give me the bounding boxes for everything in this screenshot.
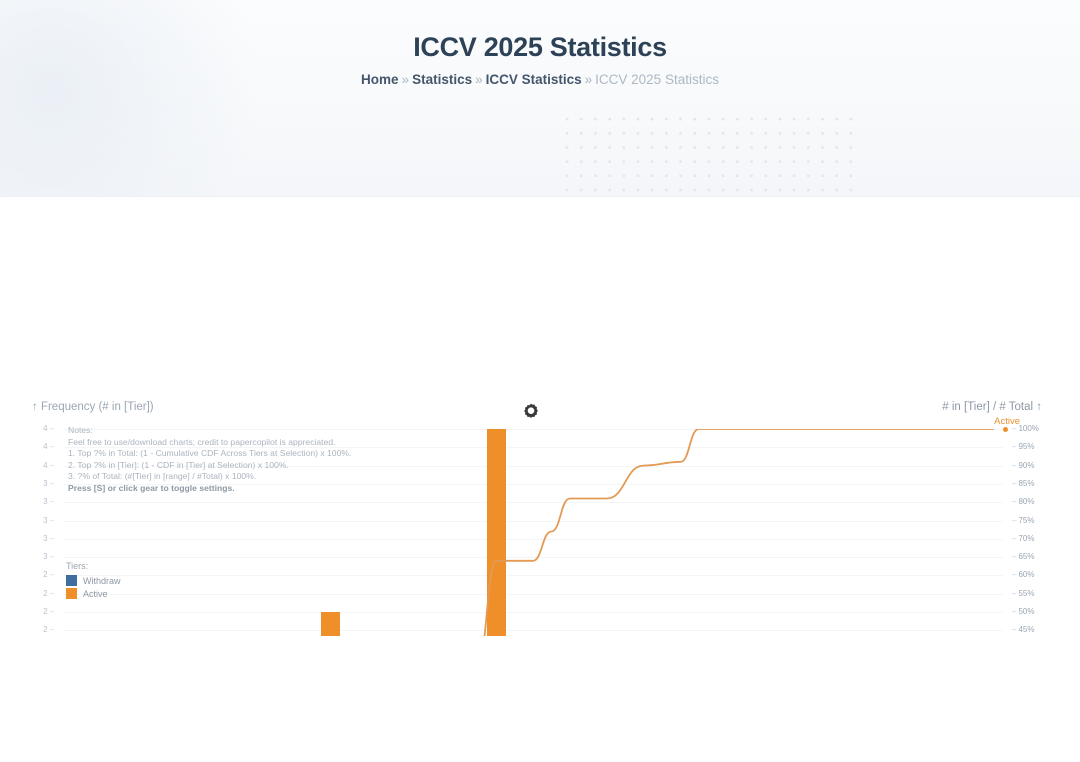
y-tick-right-90: –90%	[1012, 461, 1034, 470]
y-tick-left-6: 3–	[32, 534, 54, 543]
y-tick-left-10: 2–	[32, 607, 54, 616]
y-tick-right-60: –60%	[1012, 570, 1034, 579]
y-tick-right-80: –80%	[1012, 497, 1034, 506]
y-tick-right-95: –95%	[1012, 442, 1034, 451]
gear-icon[interactable]	[521, 402, 541, 422]
breadcrumb-separator: »	[585, 72, 593, 87]
legend-label-withdraw: Withdraw	[83, 576, 121, 586]
notes-line-3: 2. Top ?% in [Tier]: (1 - CDF in [Tier] …	[68, 460, 351, 472]
y-tick-left-1: 4–	[32, 442, 54, 451]
y-tick-left-11: 2–	[32, 625, 54, 634]
y-tick-left-7: 3–	[32, 552, 54, 561]
page-title: ICCV 2025 Statistics	[0, 32, 1080, 63]
breadcrumb-item-home[interactable]: Home	[361, 72, 399, 87]
y-tick-right-65: –65%	[1012, 552, 1034, 561]
y-tick-left-8: 2–	[32, 570, 54, 579]
y-tick-left-5: 3–	[32, 516, 54, 525]
breadcrumb: Home»Statistics»ICCV Statistics»ICCV 202…	[0, 72, 1080, 87]
y-tick-right-55: –55%	[1012, 589, 1034, 598]
page-header: ICCV 2025 Statistics Home»Statistics»ICC…	[0, 0, 1080, 196]
y-tick-left-9: 2–	[32, 589, 54, 598]
chart-panel: ↑ Frequency (# in [Tier]) # in [Tier] / …	[0, 196, 1080, 636]
legend-item-withdraw[interactable]: Withdraw	[66, 575, 121, 586]
y-axis-title-left: ↑ Frequency (# in [Tier])	[32, 401, 154, 413]
y-tick-right-70: –70%	[1012, 534, 1034, 543]
notes-line-1: Feel free to use/download charts; credit…	[68, 437, 351, 449]
decorative-dot-grid	[560, 112, 860, 196]
cdf-endpoint-active	[1003, 427, 1008, 432]
breadcrumb-item-iccv-statistics[interactable]: ICCV Statistics	[486, 72, 582, 87]
notes-heading: Notes:	[68, 425, 351, 437]
legend-label-active: Active	[83, 589, 108, 599]
y-tick-left-4: 3–	[32, 497, 54, 506]
y-axis-title-right: # in [Tier] / # Total ↑	[942, 401, 1042, 413]
legend-item-active[interactable]: Active	[66, 588, 121, 599]
breadcrumb-item-iccv-2025-statistics: ICCV 2025 Statistics	[595, 72, 719, 87]
bottom-controls: Choose Status→Choose X Axis→Choose Area→…	[0, 636, 1080, 762]
y-tick-left-2: 4–	[32, 461, 54, 470]
y-tick-right-45: –45%	[1012, 625, 1034, 634]
breadcrumb-separator: »	[475, 72, 483, 87]
notes-line-4: 3. ?% of Total: (#[Tier] in [range] / #T…	[68, 471, 351, 483]
notes-line-5: Press [S] or click gear to toggle settin…	[68, 483, 351, 495]
y-tick-left-0: 4–	[32, 424, 54, 433]
breadcrumb-separator: »	[402, 72, 410, 87]
breadcrumb-item-statistics[interactable]: Statistics	[412, 72, 472, 87]
notes-line-2: 1. Top ?% in Total: (1 - Cumulative CDF …	[68, 448, 351, 460]
legend-swatch-withdraw	[66, 575, 77, 586]
chart-notes: Notes: Feel free to use/download charts;…	[68, 425, 351, 495]
chart-legend: Tiers: Withdraw Active	[66, 561, 121, 601]
y-tick-right-100: –100%	[1012, 424, 1039, 433]
y-tick-right-75: –75%	[1012, 516, 1034, 525]
y-tick-right-85: –85%	[1012, 479, 1034, 488]
legend-title: Tiers:	[66, 561, 121, 571]
y-tick-left-3: 3–	[32, 479, 54, 488]
y-tick-right-50: –50%	[1012, 607, 1034, 616]
legend-swatch-active	[66, 588, 77, 599]
